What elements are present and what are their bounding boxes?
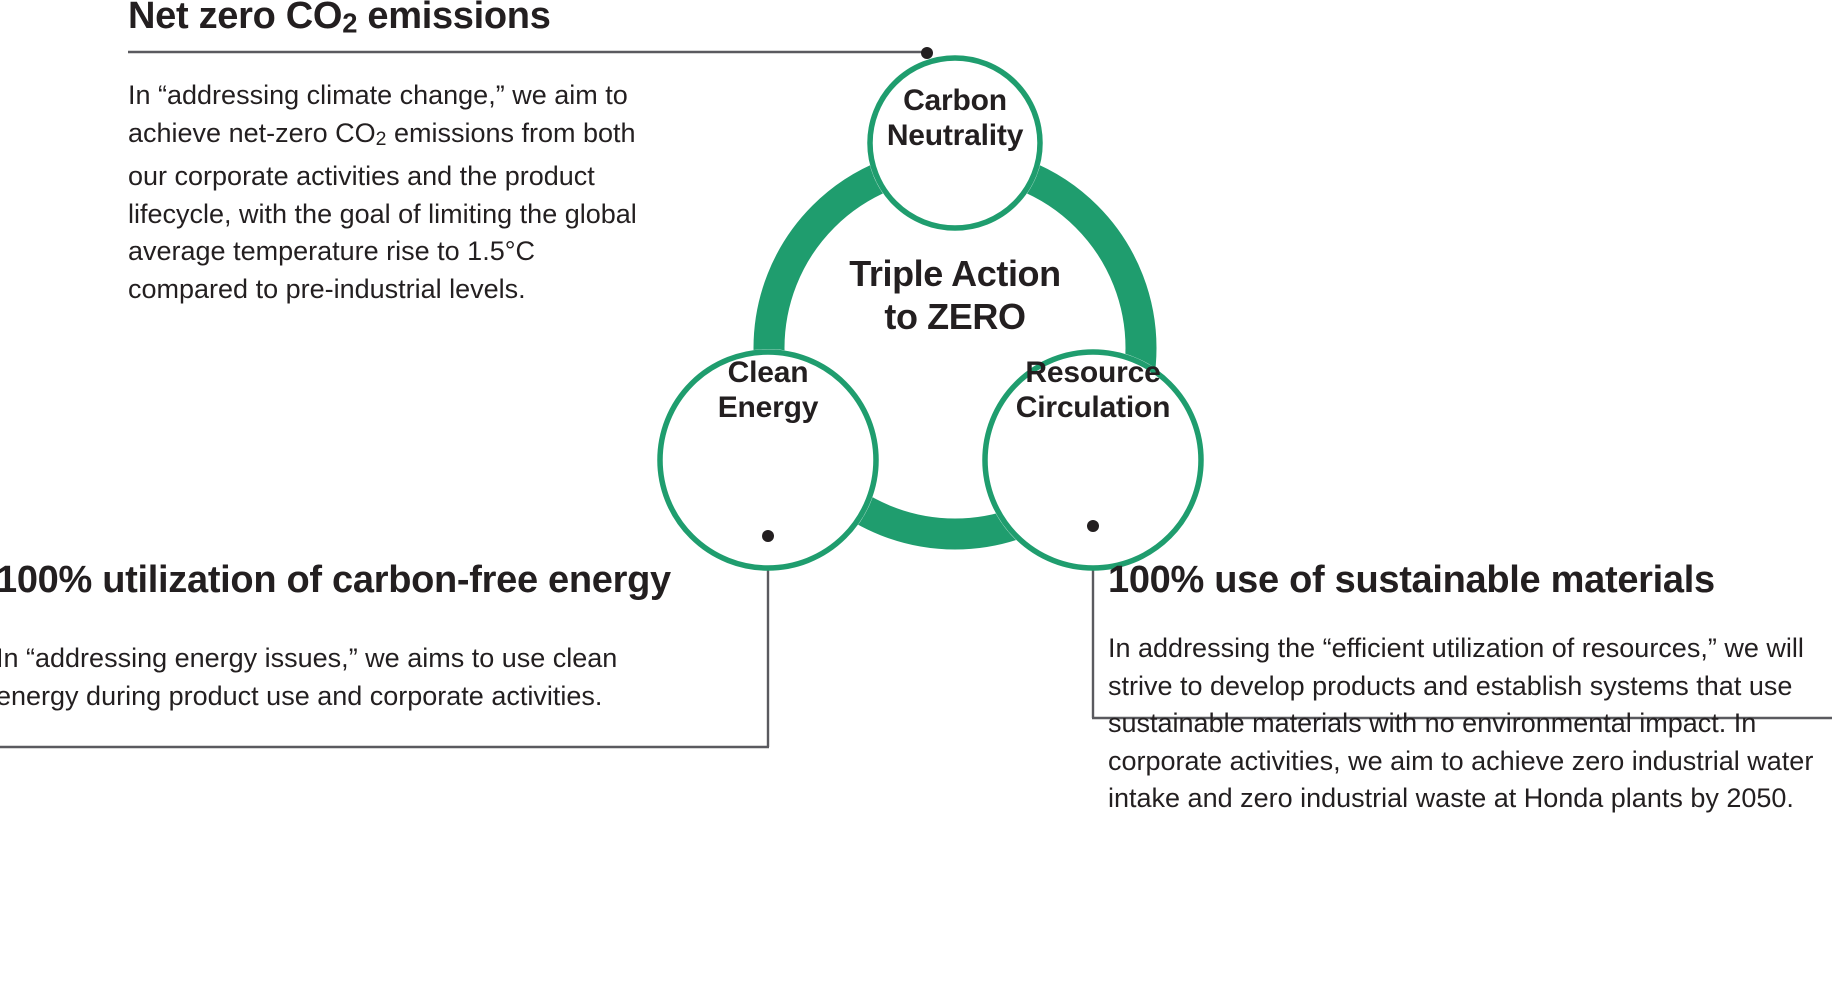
node-label-line-1: Resource: [985, 355, 1201, 390]
heading-subscript: 2: [342, 7, 357, 38]
leader-dot-clean-energy: [762, 530, 774, 542]
panel-body-net-zero: In “addressing climate change,” we aim t…: [128, 77, 638, 308]
panel-sustainable-materials: 100% use of sustainable materials In add…: [1108, 556, 1832, 818]
panel-carbon-free-energy: 100% utilization of carbon-free energy I…: [0, 556, 786, 715]
node-label-line-1: Clean: [668, 355, 868, 390]
leader-dot-carbon-neutrality: [921, 47, 933, 59]
node-label-carbon-neutrality: Carbon Neutrality: [855, 83, 1055, 154]
node-label-resource-circulation: Resource Circulation: [985, 355, 1201, 426]
heading-text-prefix: Net zero CO: [128, 0, 342, 37]
node-label-line-2: Circulation: [985, 390, 1201, 425]
panel-net-zero-co2-emissions: Net zero CO2 emissions In “addressing cl…: [128, 0, 828, 308]
node-label-clean-energy: Clean Energy: [668, 355, 868, 426]
body-subscript: 2: [376, 128, 387, 150]
infographic-canvas: Carbon Neutrality Clean Energy Resource …: [0, 0, 1832, 983]
center-title-line-2: to ZERO: [830, 295, 1080, 338]
panel-heading-sustainable-materials: 100% use of sustainable materials: [1108, 556, 1832, 604]
diagram-center-title: Triple Action to ZERO: [830, 252, 1080, 338]
panel-heading-net-zero: Net zero CO2 emissions: [128, 0, 828, 47]
node-label-line-2: Neutrality: [855, 118, 1055, 153]
node-label-line-2: Energy: [668, 390, 868, 425]
leader-dot-resource-circulation: [1087, 520, 1099, 532]
center-title-line-1: Triple Action: [830, 252, 1080, 295]
panel-body-carbon-free-energy: In “addressing energy issues,” we aims t…: [0, 640, 636, 715]
heading-text-suffix: emissions: [357, 0, 550, 37]
panel-heading-carbon-free-energy: 100% utilization of carbon-free energy: [0, 556, 786, 604]
node-label-line-1: Carbon: [855, 83, 1055, 118]
panel-body-sustainable-materials: In addressing the “efficient utilization…: [1108, 630, 1832, 818]
